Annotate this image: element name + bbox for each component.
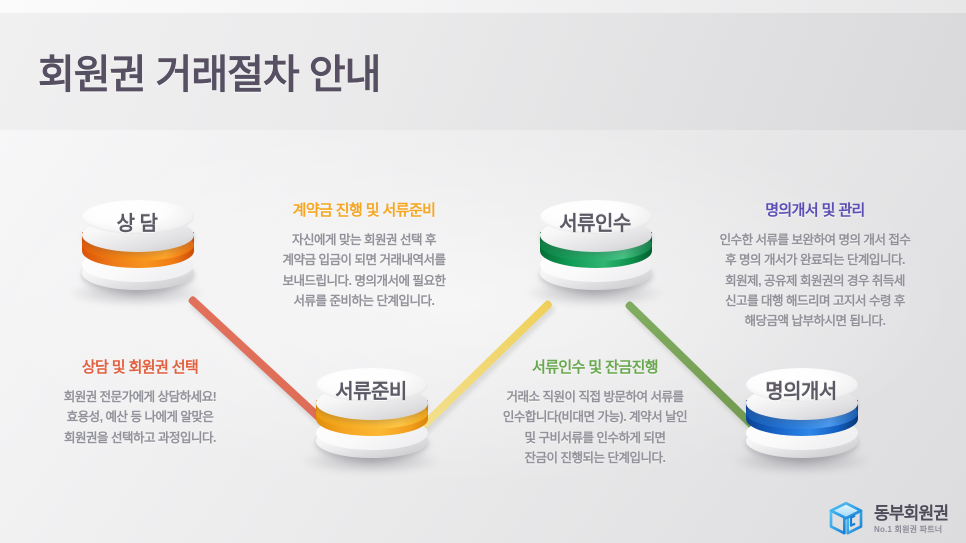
step-text-block-1: 상담 및 회원권 선택 회원권 전문가에게 상담하세요! 효용성, 예산 등 나…	[32, 356, 248, 448]
background-vignette	[0, 130, 966, 543]
step-4-body: 인수한 서류를 보완하여 명의 개서 접수 후 명의 개서가 완료되는 단계입니…	[692, 230, 938, 331]
cylinder-2-top-face	[316, 368, 428, 402]
background-top-strip	[0, 0, 966, 13]
step-4-heading: 명의개서 및 관리	[692, 199, 938, 220]
step-cylinder-1[interactable]: 상 담	[78, 196, 196, 300]
infographic-canvas: 회원권 거래절차 안내 상 담 서류준비	[0, 0, 966, 543]
logo-tagline: No.1 회원권 파트너	[874, 526, 948, 534]
step-text-block-2: 계약금 진행 및 서류준비 자신에게 맞는 회원권 선택 후 계약금 입금이 되…	[258, 199, 470, 311]
step-cylinder-3[interactable]: 서류인수	[536, 196, 654, 300]
step-cylinder-4[interactable]: 명의개서	[742, 364, 860, 468]
cube-logo-icon	[826, 499, 866, 539]
page-title: 회원권 거래절차 안내	[38, 42, 380, 100]
brand-logo[interactable]: 동부회원권 No.1 회원권 파트너	[826, 499, 948, 539]
step-cylinder-2[interactable]: 서류준비	[312, 364, 430, 468]
step-2-heading: 계약금 진행 및 서류준비	[258, 199, 470, 220]
logo-brand-name: 동부회원권	[874, 505, 948, 522]
cylinder-1-top-face	[82, 200, 194, 234]
step-3-body: 거래소 직원이 직접 방문하여 서류를 인수합니다(비대면 가능). 계약서 날…	[482, 387, 708, 468]
step-2-body: 자신에게 맞는 회원권 선택 후 계약금 입금이 되면 거래내역서를 보내드립니…	[258, 230, 470, 311]
step-text-block-4: 명의개서 및 관리 인수한 서류를 보완하여 명의 개서 접수 후 명의 개서가…	[692, 199, 938, 331]
step-1-heading: 상담 및 회원권 선택	[32, 356, 248, 377]
step-3-heading: 서류인수 및 잔금진행	[482, 356, 708, 377]
step-text-block-3: 서류인수 및 잔금진행 거래소 직원이 직접 방문하여 서류를 인수합니다(비대…	[482, 356, 708, 468]
cylinder-3-top-face	[540, 200, 652, 234]
step-1-body: 회원권 전문가에게 상담하세요! 효용성, 예산 등 나에게 알맞은 회원권을 …	[32, 387, 248, 448]
cylinder-4-top-face	[746, 368, 858, 402]
logo-text-group: 동부회원권 No.1 회원권 파트너	[874, 505, 948, 534]
